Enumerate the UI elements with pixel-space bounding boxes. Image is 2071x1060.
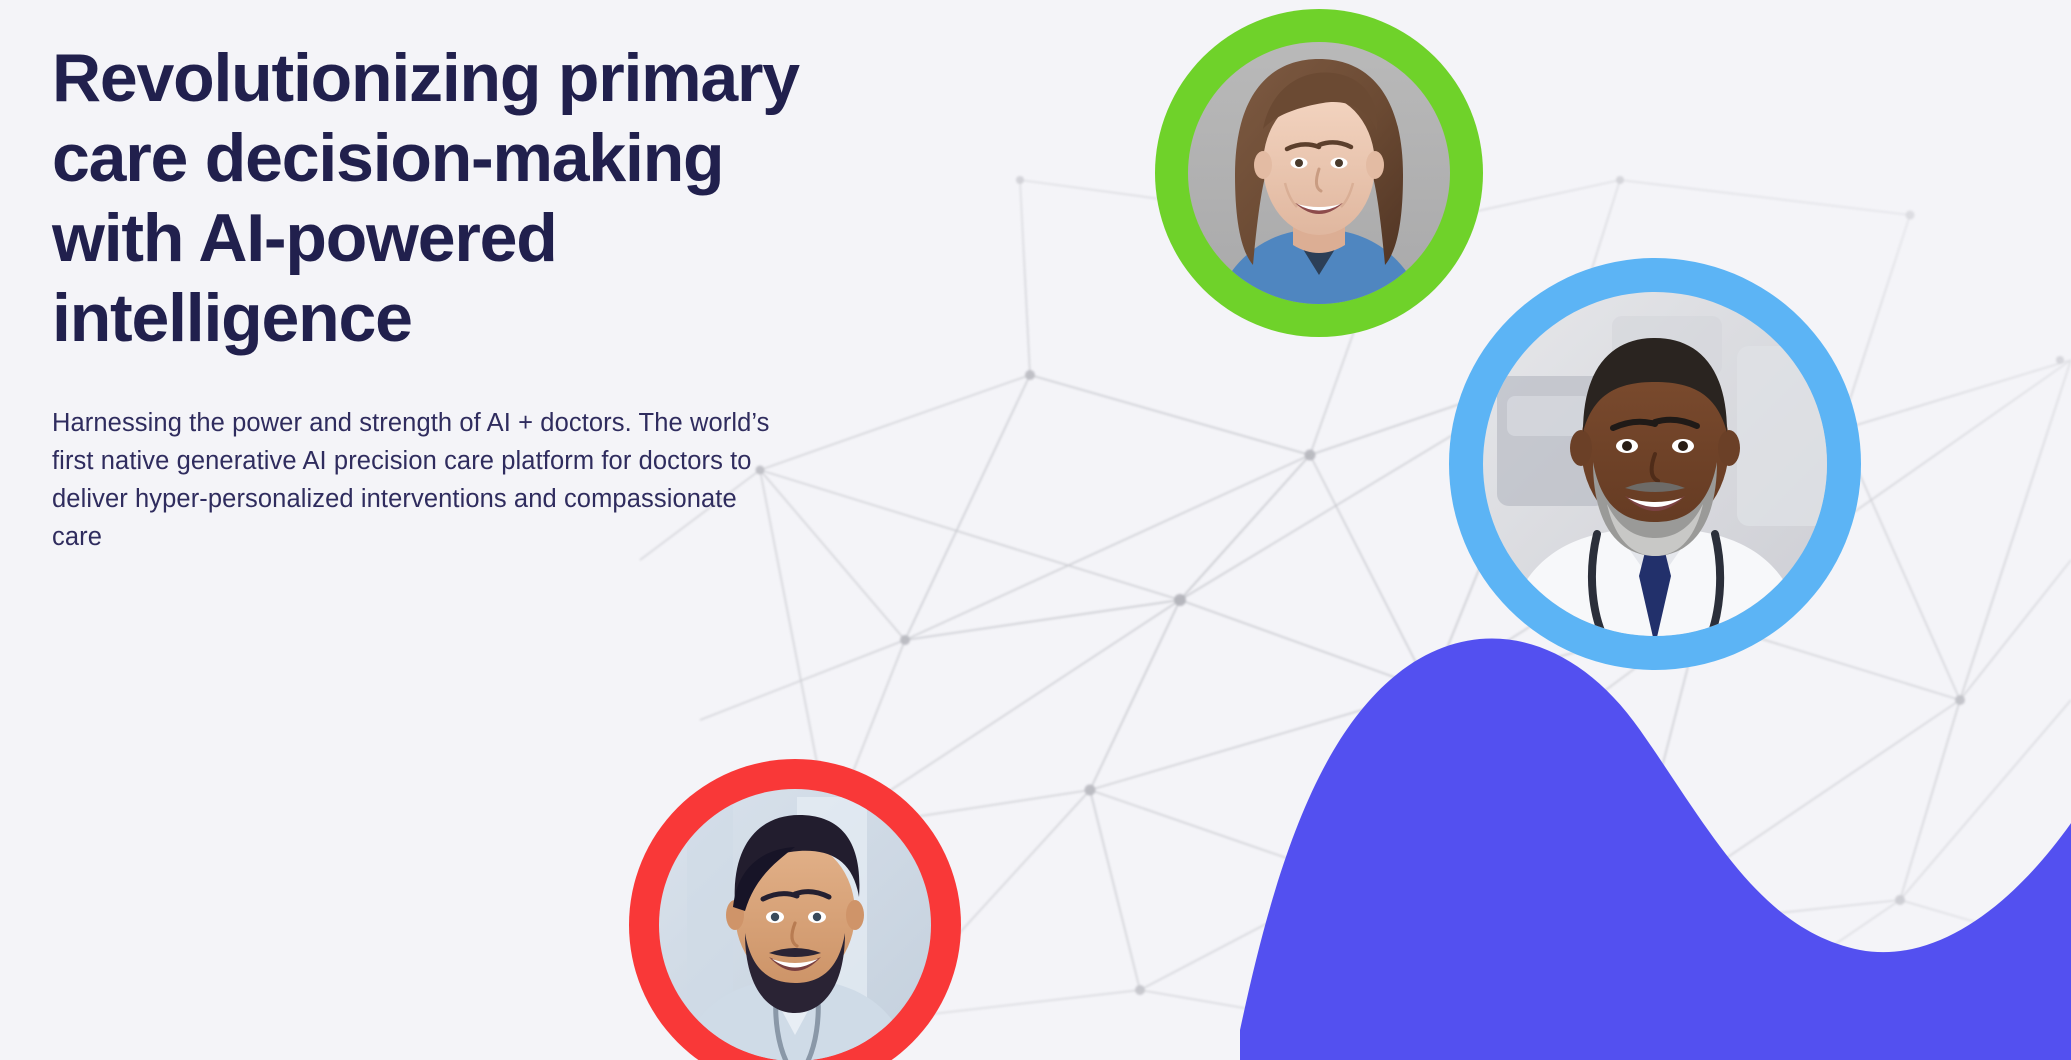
hero-section: Revolutionizing primary care decision-ma… (0, 0, 2071, 1060)
avatar-red-ring (627, 757, 963, 1060)
avatar-blue-ring (1447, 256, 1863, 672)
hero-text-column: Revolutionizing primary care decision-ma… (52, 38, 852, 556)
page-title: Revolutionizing primary care decision-ma… (52, 38, 852, 358)
hero-subcopy: Harnessing the power and strength of AI … (52, 404, 792, 556)
avatar-red-photo (659, 789, 931, 1060)
avatar-green-ring (1153, 7, 1485, 339)
